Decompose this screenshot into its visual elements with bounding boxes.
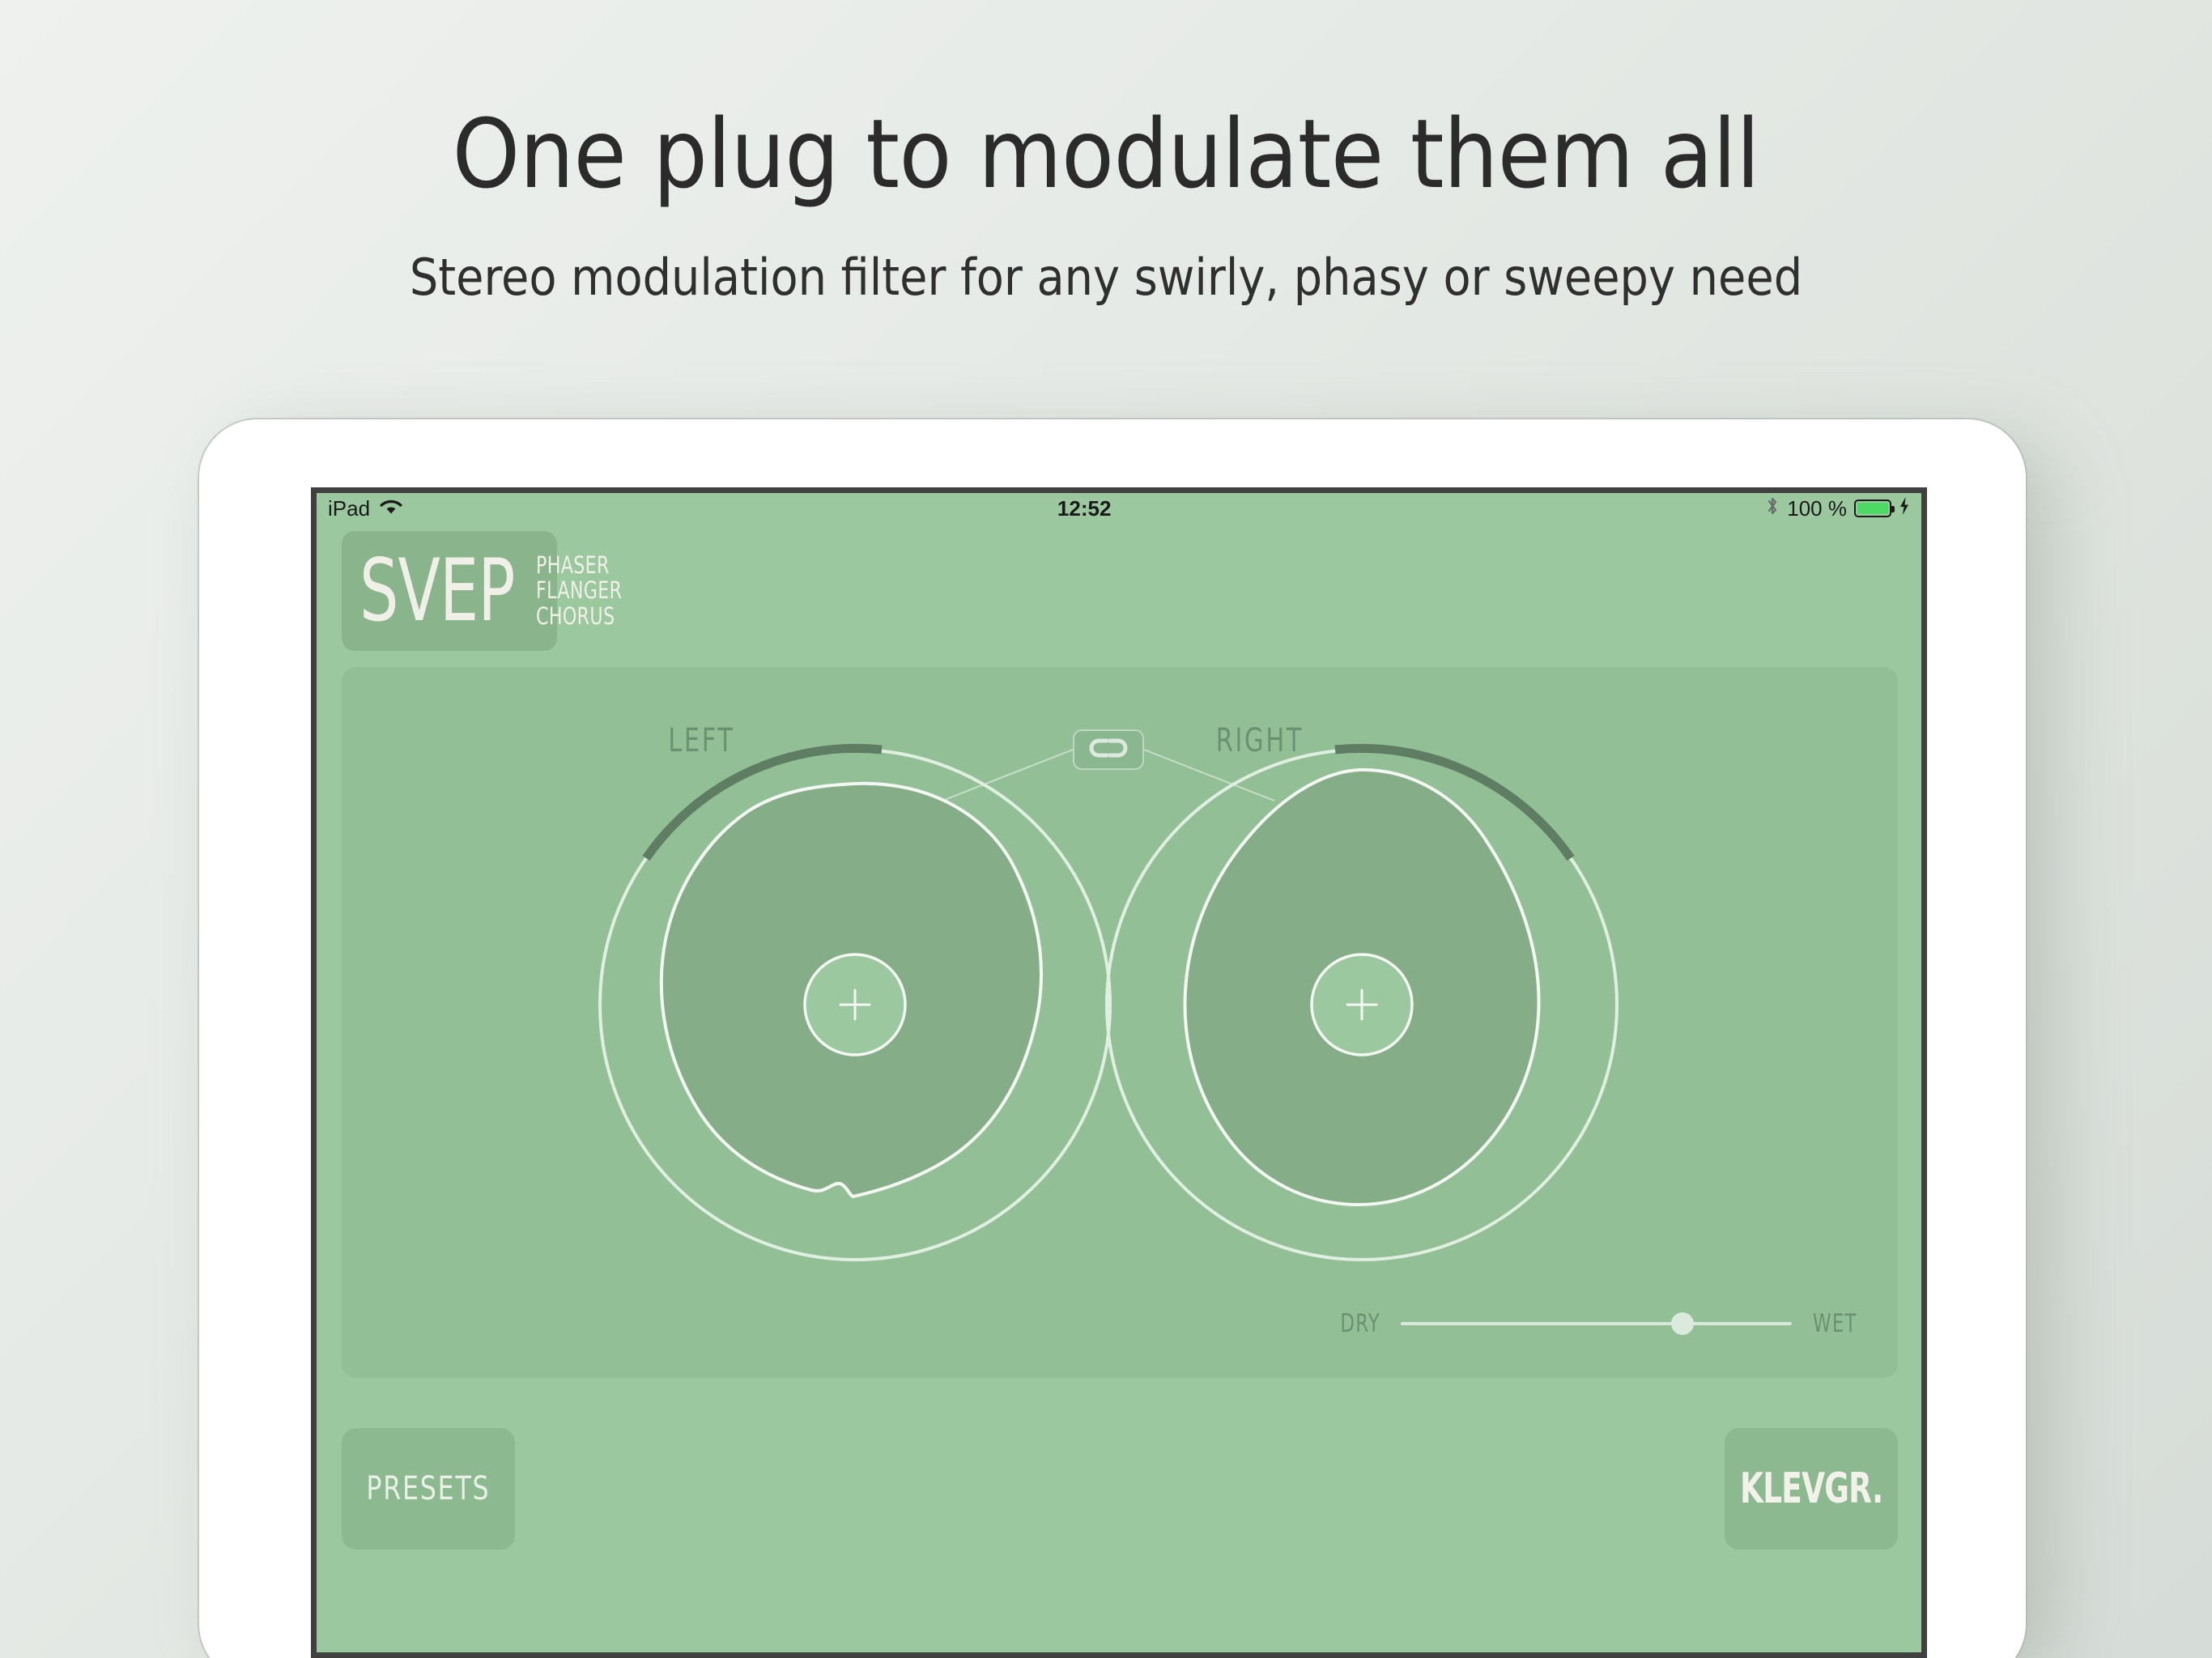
wet-label: WET: [1813, 1309, 1857, 1338]
status-bar-left: iPad: [317, 496, 403, 521]
app-logo-subtitle-line-3: CHORUS: [536, 604, 622, 629]
dry-label: DRY: [1340, 1309, 1380, 1338]
dry-wet-slider[interactable]: DRY WET: [1336, 1303, 1862, 1344]
battery-percent-label: 100 %: [1787, 496, 1847, 521]
knob-graphics: [342, 667, 1898, 1378]
app-logo: SVEP PHASER FLANGER CHORUS: [342, 531, 557, 651]
app-logo-subtitle-line-1: PHASER: [536, 553, 622, 578]
status-bar: iPad 12:52 100 %: [317, 493, 1921, 524]
wifi-icon: [379, 496, 403, 521]
presets-button-label: PRESETS: [367, 1470, 491, 1507]
app-logo-subtitle: PHASER FLANGER CHORUS: [536, 553, 622, 629]
battery-icon: [1854, 500, 1891, 517]
left-knob-label: LEFT: [668, 722, 734, 759]
marketing-page: One plug to modulate them all Stereo mod…: [0, 0, 2212, 1658]
bluetooth-icon: [1765, 495, 1780, 523]
presets-button[interactable]: PRESETS: [342, 1428, 515, 1550]
status-bar-clock: 12:52: [403, 496, 1765, 521]
dry-wet-track[interactable]: [1401, 1322, 1792, 1325]
dry-wet-handle[interactable]: [1671, 1312, 1694, 1335]
broken-link-icon: [1086, 737, 1131, 763]
left-knob-graphic: [600, 748, 1110, 1260]
right-knob-graphic: [1107, 748, 1617, 1260]
device-name-label: iPad: [328, 496, 370, 521]
page-subheadline: Stereo modulation filter for any swirly,…: [0, 248, 2212, 307]
app-screen: iPad 12:52 100 %: [317, 493, 1921, 1652]
lightning-bolt-icon: [1899, 496, 1910, 521]
ipad-screen-bezel: iPad 12:52 100 %: [311, 487, 1927, 1658]
app-logo-subtitle-line-2: FLANGER: [536, 578, 622, 603]
status-bar-right: 100 %: [1765, 495, 1921, 523]
modulation-panel: LEFT RIGHT DRY WET: [342, 667, 1898, 1378]
brand-logo-label: KLEVGR.: [1740, 1465, 1882, 1513]
brand-button[interactable]: KLEVGR.: [1725, 1428, 1898, 1550]
page-headline: One plug to modulate them all: [0, 104, 2212, 205]
stereo-link-button[interactable]: [1073, 729, 1144, 770]
right-knob-label: RIGHT: [1216, 722, 1304, 759]
app-logo-wordmark: SVEP: [359, 558, 515, 625]
